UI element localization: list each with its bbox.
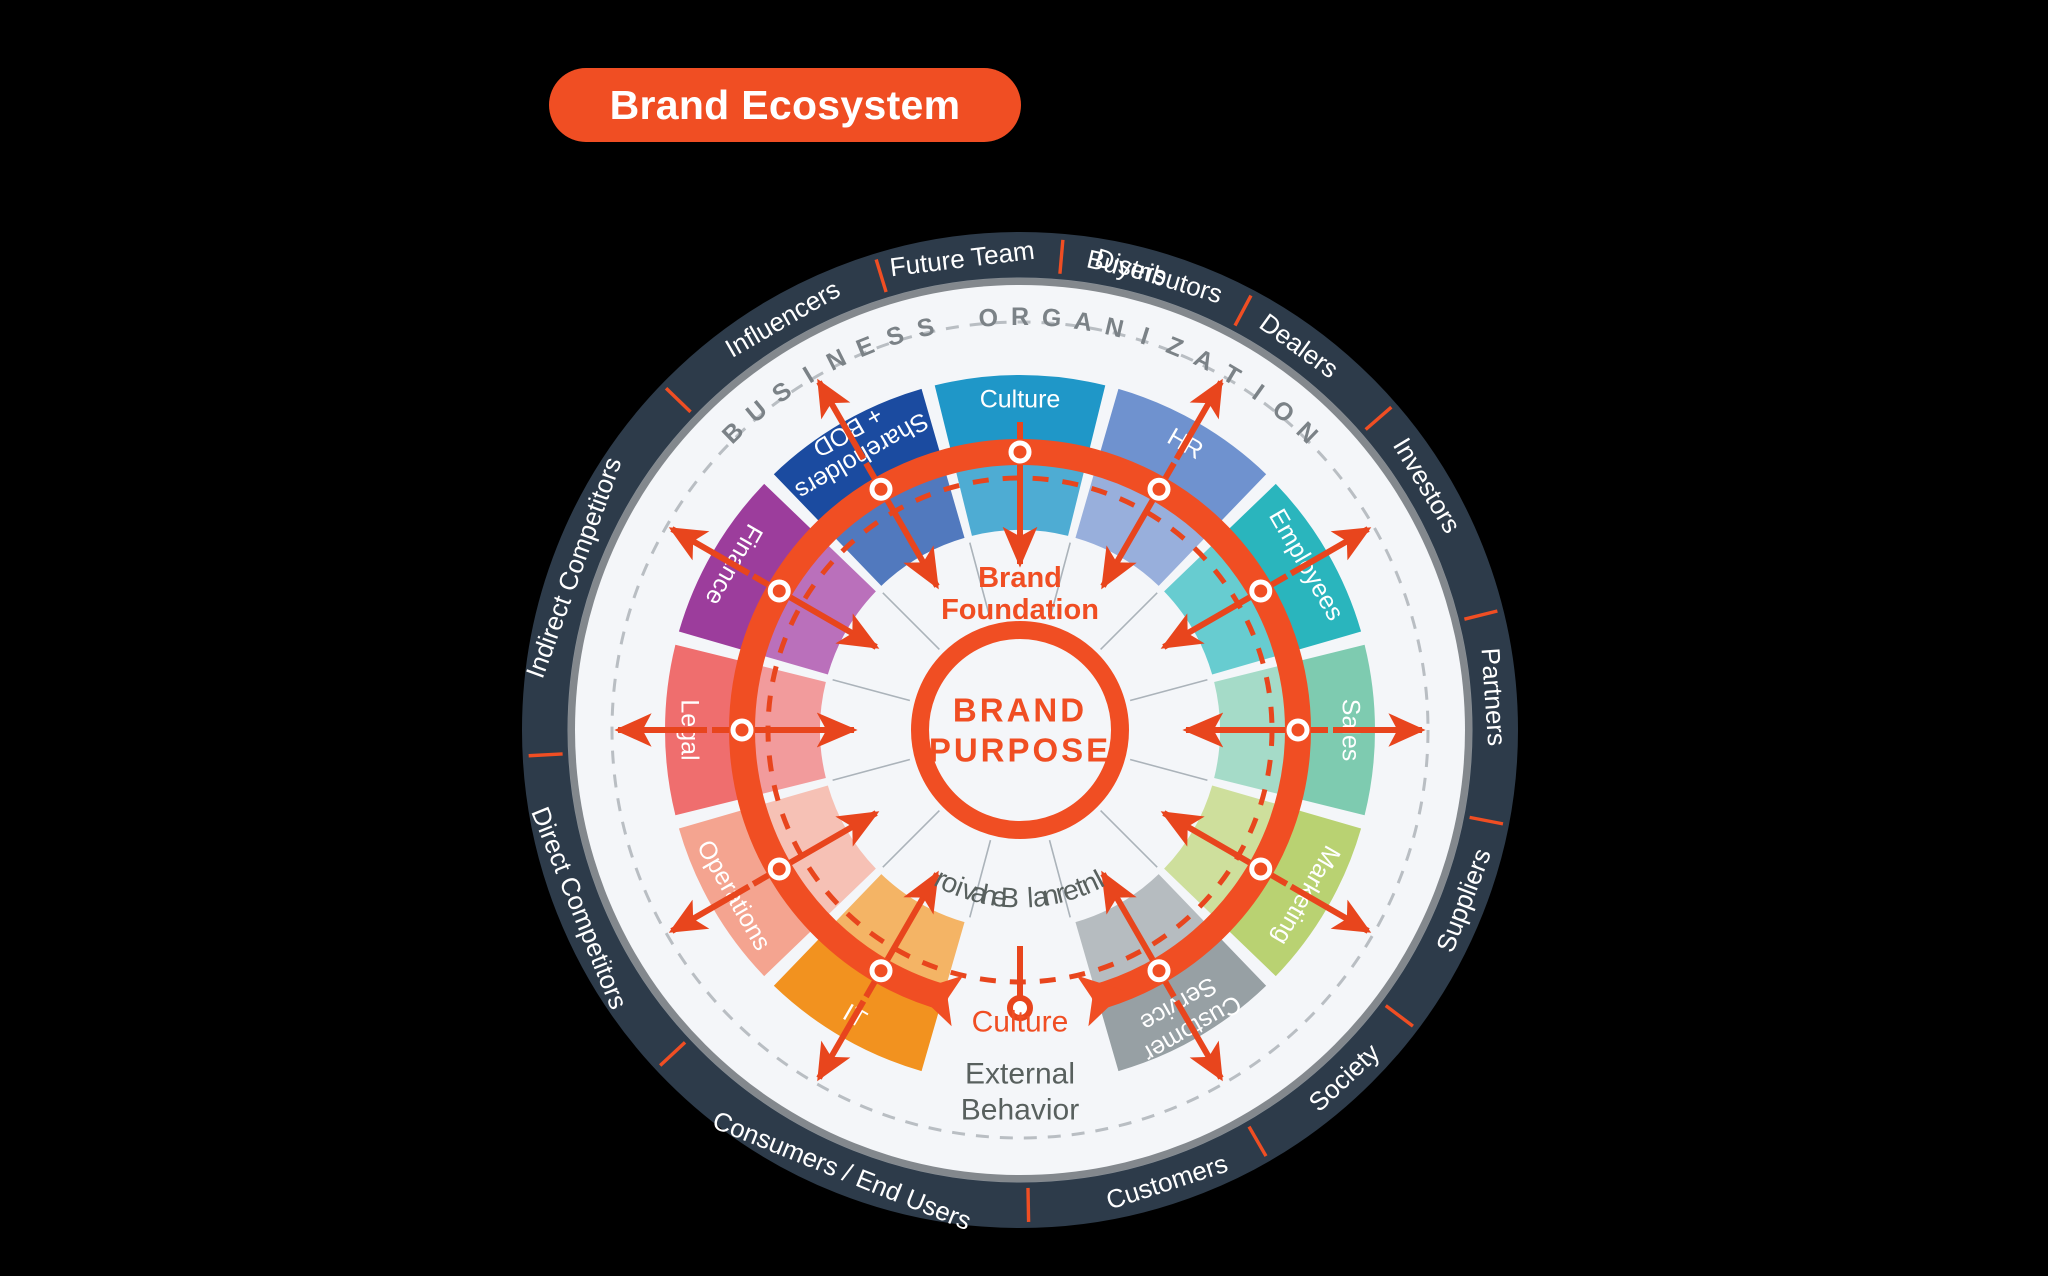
brand-foundation-line1: Brand bbox=[978, 562, 1062, 594]
segment-node[interactable] bbox=[1150, 480, 1168, 498]
segment-node[interactable] bbox=[770, 582, 788, 600]
segment-label-text: Culture bbox=[980, 386, 1061, 414]
external-behavior-line2: Behavior bbox=[961, 1094, 1079, 1127]
segment-node[interactable] bbox=[1011, 443, 1029, 461]
brand-ecosystem-wheel: BuyersDealersInvestorsPartnersSuppliersS… bbox=[0, 0, 2048, 1276]
stakeholder-separator bbox=[1028, 1188, 1029, 1222]
brand-purpose-line2: PURPOSE bbox=[929, 732, 1111, 769]
segment-node[interactable] bbox=[770, 860, 788, 878]
diagram-canvas: Brand Ecosystem BuyersDealersInvestorsPa… bbox=[0, 0, 2048, 1276]
segment-node[interactable] bbox=[1252, 582, 1270, 600]
segment-node[interactable] bbox=[1150, 962, 1168, 980]
segment-node[interactable] bbox=[733, 721, 751, 739]
brand-foundation-line2: Foundation bbox=[941, 594, 1099, 626]
brand-purpose-line1: BRAND bbox=[953, 692, 1087, 729]
segment-label: Culture bbox=[980, 386, 1061, 414]
business-organization-arc-char: G bbox=[1041, 304, 1063, 333]
stakeholder-separator bbox=[529, 754, 563, 756]
segment-node[interactable] bbox=[872, 480, 890, 498]
business-organization-arc-char: O bbox=[978, 304, 1000, 333]
segment-node[interactable] bbox=[872, 962, 890, 980]
segment-node[interactable] bbox=[1252, 860, 1270, 878]
external-behavior-line1: External bbox=[965, 1058, 1075, 1091]
segment-node[interactable] bbox=[1289, 721, 1307, 739]
business-organization-arc-char: R bbox=[1011, 303, 1029, 331]
culture-label: Culture bbox=[972, 1006, 1069, 1039]
